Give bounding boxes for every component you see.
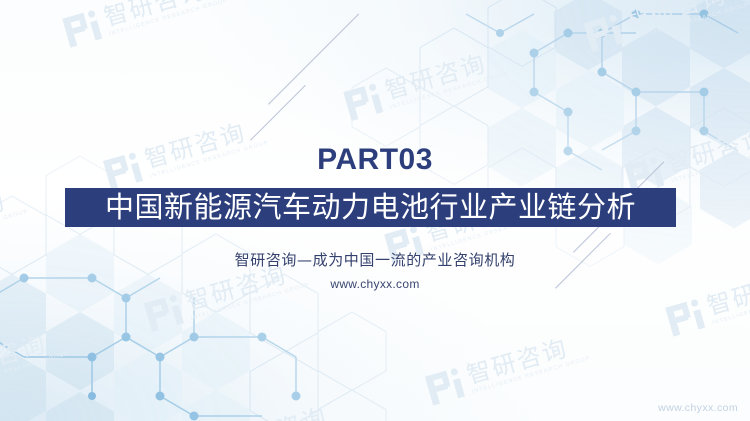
slide-content: PART03 中国新能源汽车动力电池行业产业链分析 智研咨询—成为中国一流的产业… — [0, 0, 750, 421]
section-title-text: 中国新能源汽车动力电池行业产业链分析 — [105, 193, 636, 222]
part-label: PART03 — [0, 143, 750, 177]
slide-canvas: 智研咨询INTELLIGENCE RESEARCH GROUP智研咨询INTEL… — [0, 0, 750, 421]
slide-subtitle: 智研咨询—成为中国一流的产业咨询机构 — [0, 249, 750, 270]
site-url-center: www.chyxx.com — [0, 277, 750, 291]
section-title-bar: 中国新能源汽车动力电池行业产业链分析 — [65, 188, 676, 227]
site-url-corner: www.chyxx.com — [658, 402, 738, 414]
